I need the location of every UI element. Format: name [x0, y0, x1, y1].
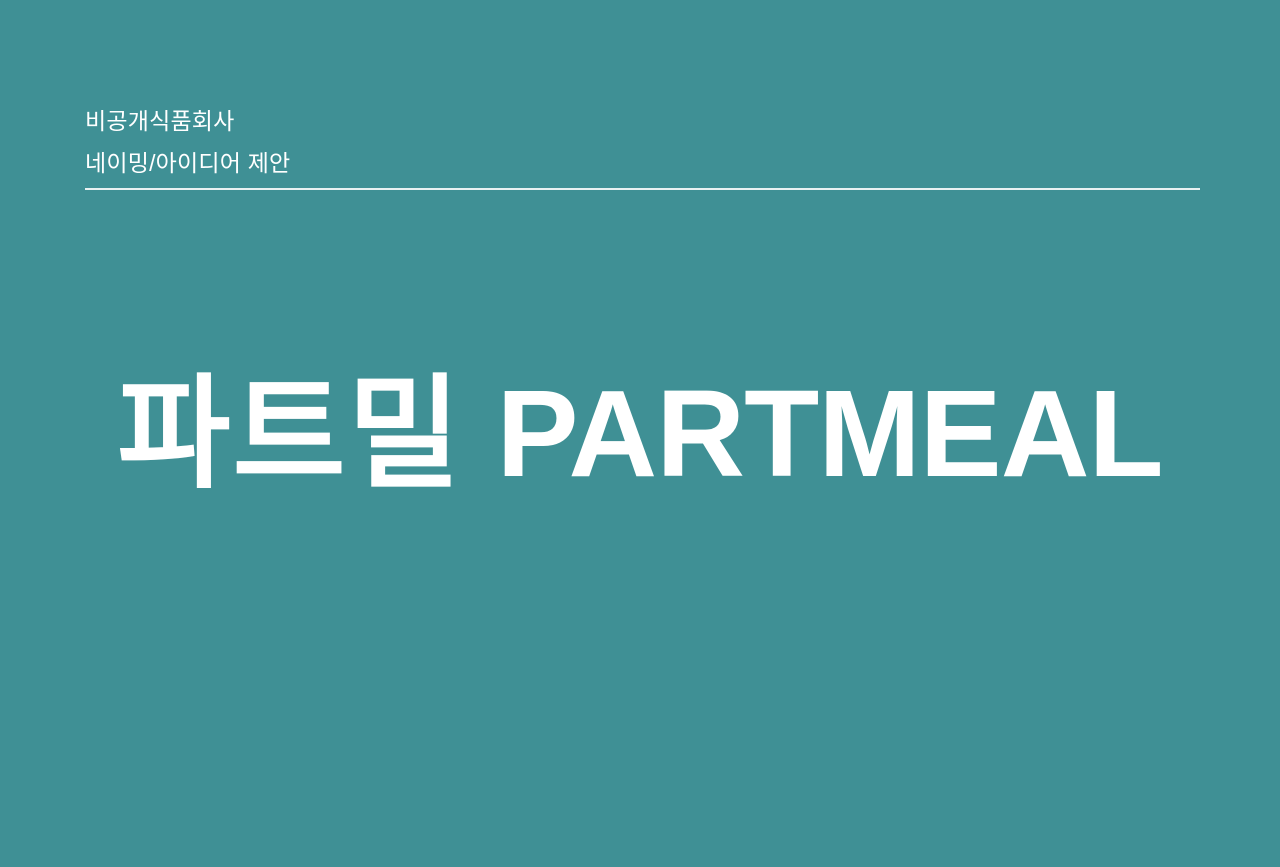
- header-subtitle-line-2: 네이밍/아이디어 제안: [85, 142, 1200, 184]
- page-title-separator: [463, 366, 497, 503]
- page-title-english: PARTMEAL: [497, 366, 1163, 503]
- presentation-slide: 비공개식품회사 네이밍/아이디어 제안 파트밀 PARTMEAL: [0, 0, 1280, 867]
- page-title: 파트밀 PARTMEAL: [117, 370, 1162, 499]
- slide-header: 비공개식품회사 네이밍/아이디어 제안: [85, 100, 1200, 190]
- header-subtitle-line-1: 비공개식품회사: [85, 100, 1200, 142]
- page-title-korean: 파트밀: [117, 366, 462, 503]
- header-divider-rule: [85, 188, 1200, 190]
